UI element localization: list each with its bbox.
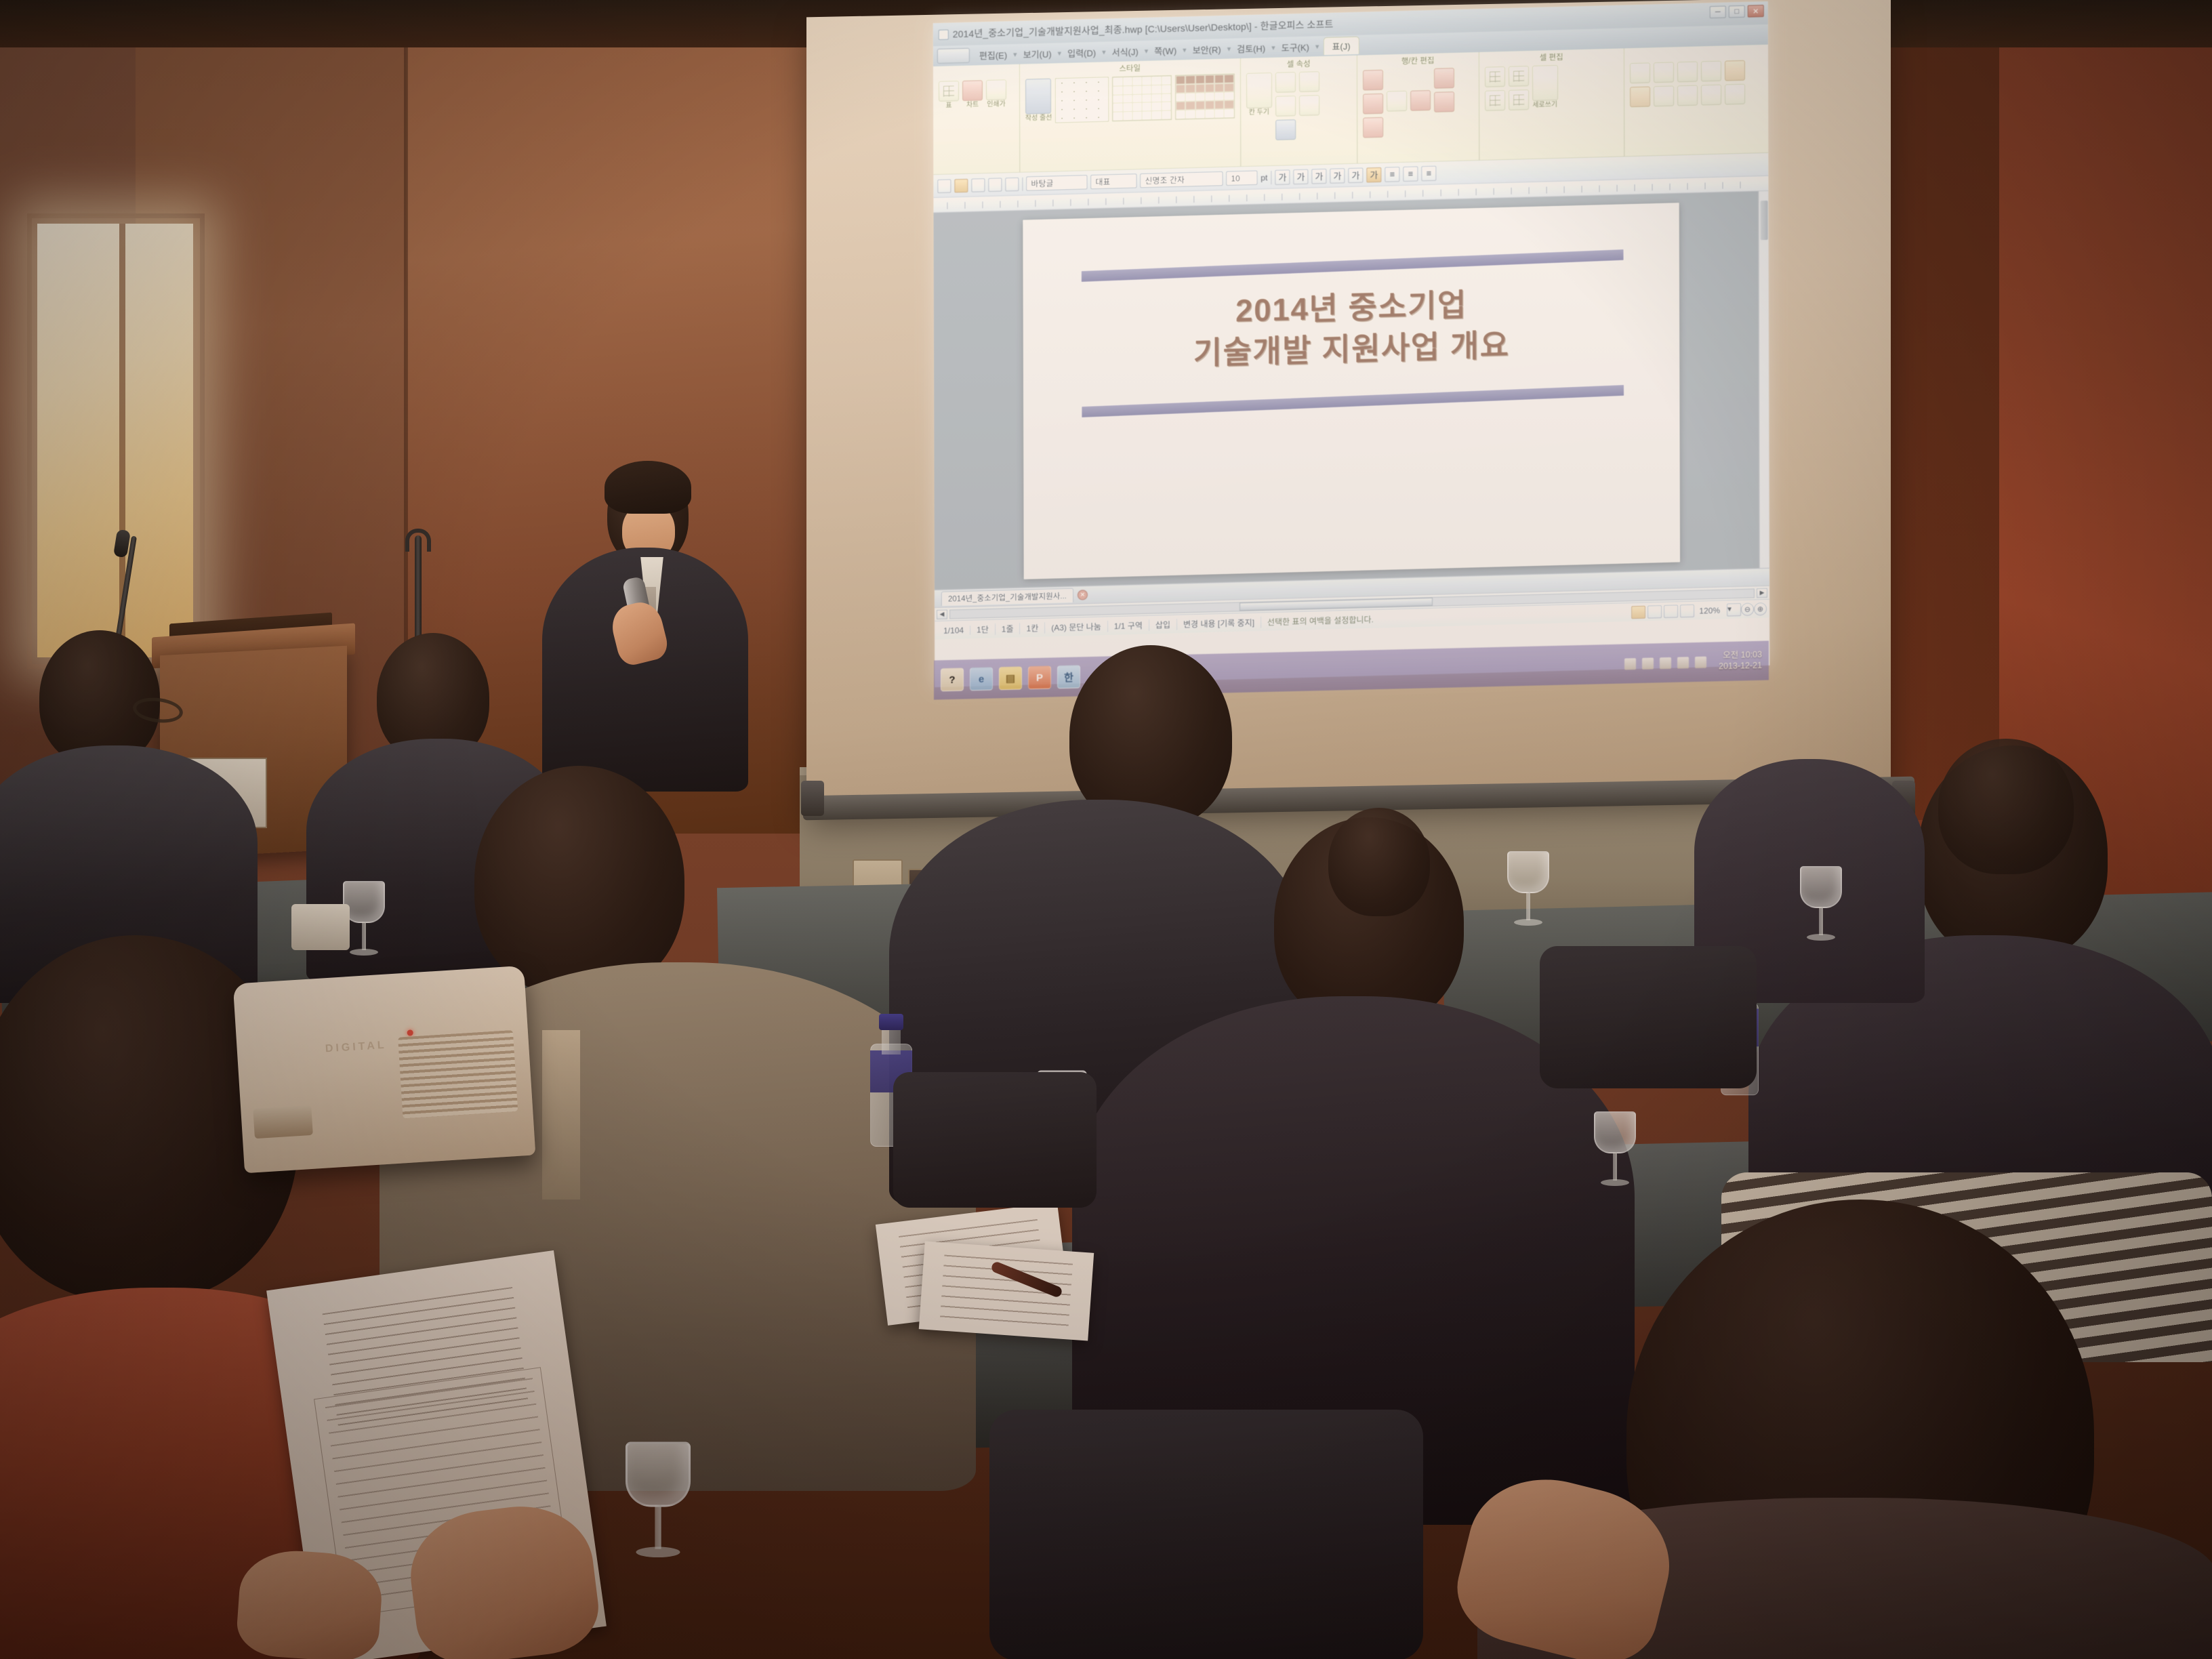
- attendee-head-3: [474, 766, 684, 996]
- status-page: 1/104: [937, 625, 970, 635]
- delete-cell-icon[interactable]: [1387, 91, 1407, 112]
- projector-vent: [398, 1030, 518, 1118]
- status-insert-mode: 삽입: [1149, 619, 1177, 631]
- close-icon[interactable]: ✕: [1078, 590, 1088, 600]
- font-family-select[interactable]: 신명조 간자: [1140, 171, 1223, 188]
- ribbon-caption-print: 인쇄가: [986, 101, 1006, 108]
- zoom-in-button[interactable]: ⊕: [1754, 602, 1767, 615]
- table-icon[interactable]: [939, 81, 959, 102]
- print-doc-icon[interactable]: [988, 178, 1002, 192]
- align-middle-left-icon[interactable]: [1725, 60, 1745, 81]
- seminar-room-photo: 2014년_중소기업_기술개발지원사업_최종.hwp [C:\Users\Use…: [0, 0, 2212, 1659]
- border-type-icon[interactable]: [1299, 71, 1319, 92]
- table-style-icon[interactable]: [1025, 79, 1051, 115]
- title-accent-bar-top: [1082, 249, 1624, 282]
- insert-col-left-icon[interactable]: [1363, 94, 1383, 115]
- maximize-button[interactable]: □: [1729, 5, 1745, 18]
- split-horizontal-icon[interactable]: [1485, 66, 1505, 87]
- projector-brand-label: DIGITAL: [325, 1040, 387, 1056]
- clock-date: 2013-12-21: [1719, 661, 1762, 672]
- menu-item-edit[interactable]: 편집(E): [975, 47, 1012, 63]
- screen-roller-end-left: [801, 781, 824, 816]
- italic-button[interactable]: 가: [1293, 169, 1308, 184]
- handout-paper-2: [919, 1241, 1094, 1340]
- table-template-colored[interactable]: [1175, 74, 1235, 120]
- menu-sep-3: ▾: [1145, 46, 1149, 55]
- powerpoint-icon[interactable]: P: [1028, 665, 1051, 689]
- clock-time: 오전 10:03: [1719, 650, 1762, 661]
- split-vertical-icon[interactable]: [1509, 66, 1529, 87]
- paper-cup: [291, 904, 350, 950]
- insert-row-above-icon[interactable]: [1363, 70, 1383, 91]
- zoom-out-button[interactable]: ⊖: [1741, 602, 1754, 615]
- ceiling-projector: DIGITAL: [233, 966, 536, 1173]
- chart-icon[interactable]: [962, 80, 983, 101]
- vertical-text-icon[interactable]: [1532, 65, 1558, 101]
- attendee-head-10: [1328, 808, 1430, 916]
- vertical-scroll-thumb: [1760, 201, 1767, 240]
- window-controls[interactable]: ─ □ ✕: [1710, 5, 1764, 18]
- chair-back-2: [893, 1072, 1097, 1208]
- wine-glass-6: [626, 1442, 691, 1566]
- ribbon-caption-chart: 차트: [962, 102, 983, 109]
- ribbon-group-row-col-label: 행/칸 편집: [1357, 54, 1479, 68]
- align-center-button[interactable]: ≡: [1403, 166, 1418, 182]
- ribbon-group-cell-edit-label: 셀 편집: [1479, 49, 1623, 64]
- split-quad-icon[interactable]: [1509, 89, 1529, 110]
- projector-lens: [253, 1105, 313, 1139]
- insert-row-below-icon[interactable]: [1363, 117, 1383, 138]
- font-size-unit: pt: [1261, 173, 1267, 182]
- align-bottom-left-icon[interactable]: [1677, 85, 1698, 106]
- volume-icon[interactable]: [1695, 656, 1706, 668]
- menu-sep-2: ▾: [1102, 47, 1106, 56]
- chair-back-1: [1540, 946, 1757, 1088]
- menu-sep-5: ▾: [1227, 44, 1231, 53]
- insert-col-right-icon[interactable]: [1410, 90, 1431, 111]
- chevron-down-icon[interactable]: ▾: [1727, 603, 1741, 617]
- folder-icon[interactable]: ▤: [999, 666, 1022, 690]
- cell-margin-icon[interactable]: [1246, 73, 1272, 108]
- save-doc-icon[interactable]: [971, 178, 985, 192]
- menu-sep-0: ▾: [1013, 49, 1017, 58]
- align-right-button[interactable]: ≡: [1421, 165, 1436, 181]
- wine-glass-2: [1507, 851, 1549, 931]
- taskbar-clock[interactable]: 오전 10:03 2013-12-21: [1719, 650, 1762, 672]
- presenter-hair: [605, 461, 691, 514]
- border-line-icon[interactable]: [1275, 72, 1296, 93]
- menu-item-tools[interactable]: 도구(K): [1277, 39, 1314, 55]
- status-paper: (A3) 문단 나눔: [1045, 620, 1108, 633]
- tab-table[interactable]: 표(J): [1323, 37, 1359, 55]
- font-color-button[interactable]: 가: [1348, 167, 1363, 183]
- minimize-button[interactable]: ─: [1710, 6, 1726, 19]
- chair-back-3: [989, 1410, 1423, 1659]
- cell-fill-icon[interactable]: [1275, 96, 1296, 117]
- file-menu-button[interactable]: [937, 48, 970, 64]
- cell-background-icon[interactable]: [1275, 119, 1296, 140]
- menu-sep-6: ▾: [1271, 43, 1275, 52]
- status-character: 1칸: [1021, 622, 1046, 634]
- strikethrough-button[interactable]: 가: [1330, 168, 1345, 184]
- align-top-left-icon[interactable]: [1630, 62, 1650, 83]
- menu-item-security[interactable]: 보안(R): [1188, 41, 1226, 57]
- show-hidden-icon[interactable]: [1624, 658, 1636, 670]
- merge-cells-icon[interactable]: [1434, 68, 1454, 89]
- network-flag-icon[interactable]: [1642, 657, 1654, 669]
- preview-icon[interactable]: [1005, 177, 1019, 191]
- highlight-button[interactable]: 가: [1366, 167, 1381, 182]
- status-line: 1줄: [996, 623, 1021, 635]
- split-cells-icon[interactable]: [1434, 91, 1454, 112]
- hwp-document-canvas[interactable]: 2014년 중소기업 기술개발 지원사업 개요: [933, 191, 1769, 590]
- close-button[interactable]: ✕: [1748, 5, 1764, 18]
- new-doc-icon[interactable]: [937, 179, 951, 193]
- align-left-button[interactable]: ≡: [1385, 167, 1399, 182]
- facing-view-icon[interactable]: [1664, 605, 1678, 618]
- status-column: 1단: [970, 623, 996, 636]
- help-icon[interactable]: ?: [941, 668, 964, 691]
- scroll-right-icon[interactable]: ▶: [1757, 588, 1767, 597]
- zoom-icon[interactable]: [1680, 605, 1694, 618]
- ribbon-caption-table: 표: [939, 102, 959, 110]
- title-accent-bar-bottom: [1082, 385, 1624, 417]
- attendee-3-lanyard: [542, 1030, 580, 1200]
- width-view-icon[interactable]: [1647, 605, 1662, 619]
- status-track-changes: 변경 내용 [기록 중지]: [1177, 616, 1261, 630]
- status-section: 1/1 구역: [1108, 619, 1149, 632]
- style-group-select[interactable]: 대표: [1090, 173, 1136, 189]
- vertical-scrollbar[interactable]: [1758, 191, 1769, 568]
- document-page[interactable]: 2014년 중소기업 기술개발 지원사업 개요: [1023, 203, 1679, 579]
- print-icon[interactable]: [986, 79, 1006, 100]
- align-top-right-icon[interactable]: [1677, 62, 1698, 83]
- menu-item-review[interactable]: 검토(H): [1232, 40, 1270, 56]
- align-middle-center-icon[interactable]: [1630, 86, 1650, 107]
- wine-glass-5: [1594, 1111, 1636, 1191]
- ribbon-group-row-col: 행/칸 편집: [1357, 52, 1479, 163]
- align-middle-right-icon[interactable]: [1654, 86, 1674, 107]
- attendee-head-7: [1938, 739, 2074, 874]
- menu-item-page[interactable]: 쪽(W): [1149, 42, 1181, 58]
- fmt-divider-b: [1271, 171, 1271, 184]
- open-doc-icon[interactable]: [954, 178, 968, 192]
- ribbon-caption-style: 작성 줄선: [1025, 115, 1052, 123]
- usb-icon[interactable]: [1660, 657, 1671, 668]
- ribbon-group-cell-props: 셀 속성 칸 두기: [1241, 56, 1357, 166]
- hwp-application-window[interactable]: 2014년_중소기업_기술개발지원사업_최종.hwp [C:\Users\Use…: [933, 1, 1770, 687]
- style-select[interactable]: 바탕글: [1026, 175, 1087, 190]
- ribbon-group-cell-props-label: 셀 속성: [1241, 57, 1357, 70]
- hwp-icon[interactable]: 한: [1057, 665, 1080, 689]
- signal-icon[interactable]: [1677, 657, 1689, 668]
- merge-all-icon[interactable]: [1485, 90, 1505, 111]
- hwp-app-icon: [939, 29, 949, 39]
- menu-sep-7: ▾: [1315, 42, 1319, 51]
- fmt-divider-a: [1022, 177, 1023, 190]
- table-template-grid[interactable]: [1112, 75, 1172, 121]
- ribbon-caption-cell-margin: 칸 두기: [1246, 109, 1272, 117]
- projector-power-led: [407, 1029, 413, 1036]
- underline-button[interactable]: 가: [1311, 168, 1326, 184]
- browser-icon[interactable]: e: [970, 667, 993, 691]
- font-size-select[interactable]: 10: [1226, 171, 1257, 186]
- table-template-light[interactable]: [1055, 77, 1109, 123]
- ribbon-caption-vertical-text: 세로쓰기: [1532, 102, 1558, 109]
- align-justify-icon[interactable]: [1701, 61, 1721, 82]
- document-title: 2014년 중소기업 기술개발 지원사업 개요: [1023, 279, 1679, 378]
- menu-sep-4: ▾: [1183, 45, 1187, 54]
- ribbon-group-table: 표 차트 인쇄가: [933, 64, 1020, 174]
- cell-shade-icon[interactable]: [1299, 95, 1319, 116]
- menu-item-format[interactable]: 서식(J): [1107, 43, 1143, 60]
- hwp-ribbon[interactable]: 표 차트 인쇄가 스타일 작성 줄선: [933, 45, 1768, 175]
- bold-button[interactable]: 가: [1275, 169, 1290, 185]
- document-tab[interactable]: 2014년_중소기업_기술개발지원사...: [941, 588, 1073, 606]
- menu-item-view[interactable]: 보기(U): [1019, 45, 1057, 62]
- align-bottom-right-icon[interactable]: [1725, 84, 1745, 105]
- page-view-icon[interactable]: [1631, 606, 1645, 619]
- align-top-center-icon[interactable]: [1654, 62, 1674, 83]
- window-daylight: [37, 224, 193, 657]
- scroll-left-icon[interactable]: ◀: [937, 609, 947, 619]
- status-zoom-level[interactable]: 120%: [1694, 605, 1725, 615]
- menu-item-input[interactable]: 입력(D): [1063, 44, 1101, 60]
- ribbon-group-cell-edit: 셀 편집 세로쓰기: [1479, 48, 1624, 160]
- wine-glass-3: [1800, 866, 1842, 946]
- ribbon-group-style: 스타일 작성 줄선: [1020, 58, 1241, 172]
- menu-sep-1: ▾: [1058, 49, 1062, 58]
- align-bottom-center-icon[interactable]: [1701, 85, 1721, 106]
- ribbon-group-alignment: [1624, 45, 1768, 157]
